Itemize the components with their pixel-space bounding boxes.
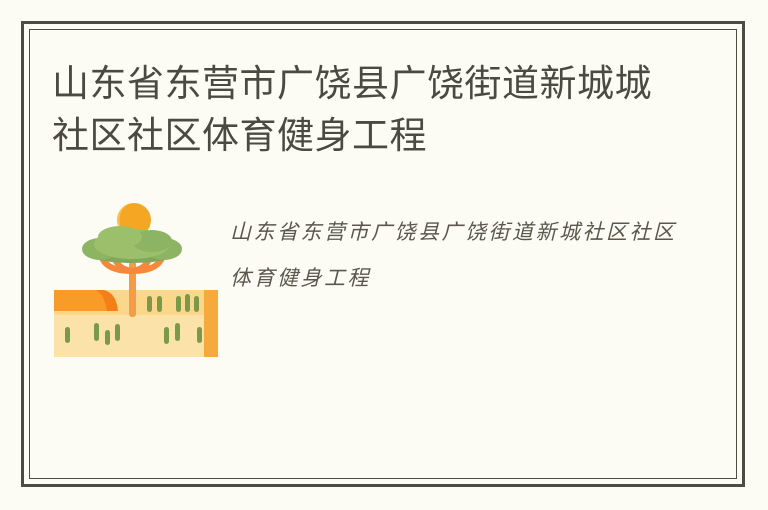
savanna-landscape-illustration xyxy=(46,193,226,373)
page-title: 山东省东营市广饶县广饶街道新城城社区社区体育健身工程 xyxy=(52,58,652,162)
content-row: 山东省东营市广饶县广饶街道新城社区社区体育健身工程 xyxy=(46,193,706,378)
caption-text: 山东省东营市广饶县广饶街道新城社区社区体育健身工程 xyxy=(230,209,690,301)
certificate-card: 山东省东营市广饶县广饶街道新城城社区社区体育健身工程 xyxy=(0,0,768,510)
tree-canopy xyxy=(82,226,182,263)
